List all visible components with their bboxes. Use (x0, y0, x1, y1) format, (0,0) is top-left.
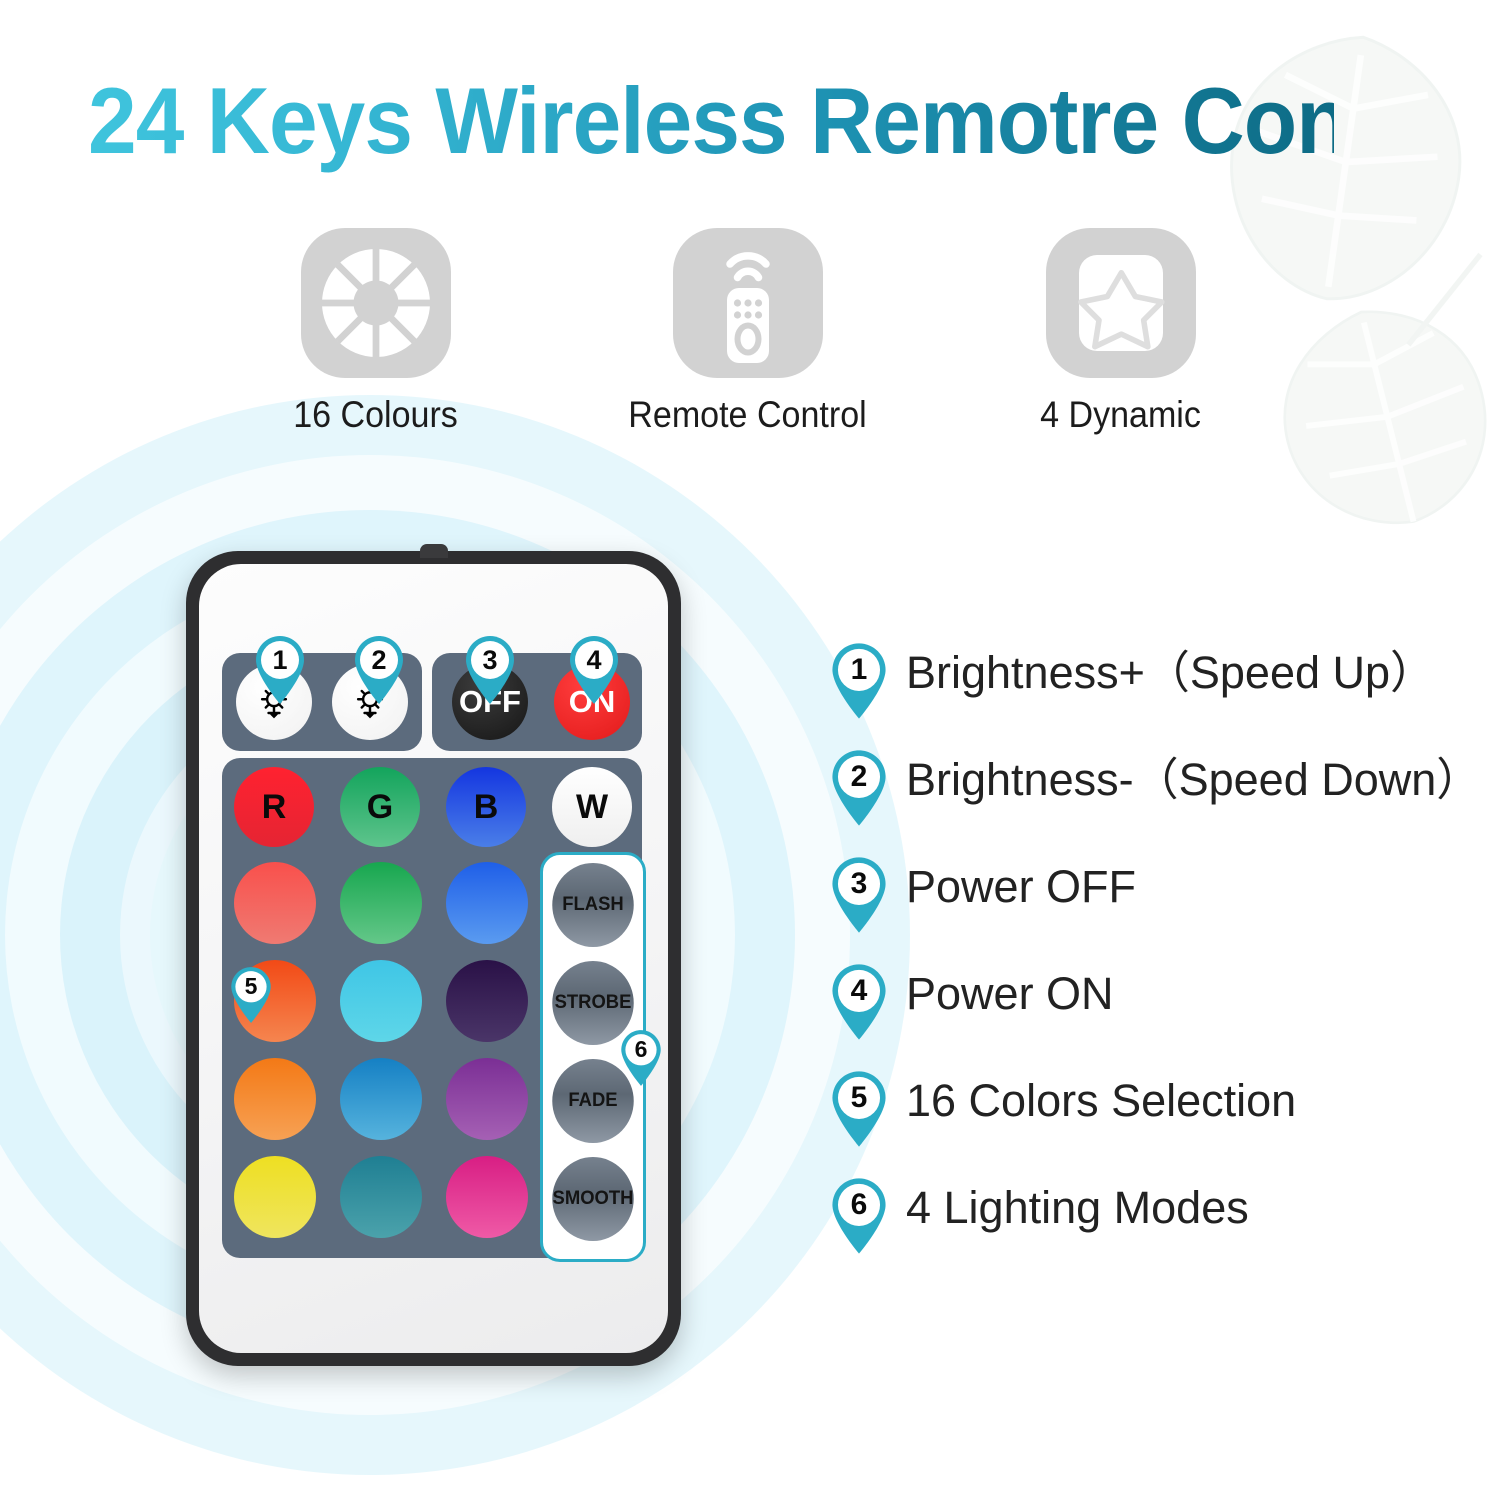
callout-pin-1: 1 (252, 634, 308, 706)
pin-number: 5 (228, 968, 274, 1004)
callout-pin-2: 2 (351, 634, 407, 706)
color-key-skyblue[interactable] (340, 1058, 422, 1140)
legend-pin-icon: 3 (828, 855, 890, 935)
color-key-cyan[interactable] (340, 960, 422, 1042)
callout-pin-3: 3 (462, 634, 518, 706)
mode-key-flash[interactable]: FLASH (552, 863, 633, 947)
legend-pin-icon: 2 (828, 748, 890, 828)
legend-pin-number: 3 (828, 860, 890, 908)
legend-pin-number: 2 (828, 753, 890, 801)
color-key-magenta[interactable] (446, 1156, 528, 1238)
color-key-yellow[interactable] (234, 1156, 316, 1238)
color-key-b[interactable]: B (446, 767, 526, 847)
legend-pin-number: 4 (828, 967, 890, 1015)
legend-item-3: 3 Power OFF (828, 851, 1488, 958)
legend-pin-number: 1 (828, 646, 890, 694)
legend-item-label: 4 Lighting Modes (906, 1178, 1249, 1238)
color-key-purple[interactable] (446, 1058, 528, 1140)
legend-item-label: Brightness-（Speed Down） (906, 750, 1481, 810)
infographic-canvas: 24 Keys Wireless Remotre Control 16 Colo… (0, 0, 1500, 1500)
color-key-orange[interactable] (234, 1058, 316, 1140)
legend-pin-icon: 6 (828, 1176, 890, 1256)
pin-number: 6 (618, 1031, 664, 1067)
legend-pin-number: 5 (828, 1074, 890, 1122)
legend-pin-number: 6 (828, 1181, 890, 1229)
legend-pin-icon: 1 (828, 641, 890, 721)
feature-4-dynamic: 4 Dynamic (973, 228, 1268, 436)
legend-item-label: Brightness+（Speed Up） (906, 643, 1435, 703)
legend-item-1: 1 Brightness+（Speed Up） (828, 637, 1488, 744)
color-key-blue[interactable] (446, 862, 528, 944)
pin-number: 2 (351, 638, 407, 682)
color-key-w[interactable]: W (552, 767, 632, 847)
color-key-teal[interactable] (340, 1156, 422, 1238)
legend-item-label: 16 Colors Selection (906, 1071, 1296, 1131)
legend-item-5: 5 16 Colors Selection (828, 1065, 1488, 1172)
legend-item-label: Power OFF (906, 857, 1136, 917)
callout-pin-6: 6 (618, 1028, 664, 1088)
color-key-salmon[interactable] (234, 862, 316, 944)
ir-emitter (420, 544, 448, 558)
pin-number: 3 (462, 638, 518, 682)
callout-pin-5: 5 (228, 965, 274, 1025)
color-key-r[interactable]: R (234, 767, 314, 847)
feature-label: 16 Colours (240, 394, 511, 436)
legend-item-4: 4 Power ON (828, 958, 1488, 1065)
pin-number: 4 (566, 638, 622, 682)
remote-control-icon (673, 228, 823, 378)
page-title: 24 Keys Wireless Remotre Control (88, 66, 1334, 176)
mode-key-smooth[interactable]: SMOOTH (552, 1157, 633, 1241)
legend-pin-icon: 5 (828, 1069, 890, 1149)
color-key-green[interactable] (340, 862, 422, 944)
color-key-g[interactable]: G (340, 767, 420, 847)
color-key-darkpurple[interactable] (446, 960, 528, 1042)
legend-item-6: 6 4 Lighting Modes (828, 1172, 1488, 1279)
feature-label: Remote Control (612, 394, 883, 436)
legend-item-2: 2 Brightness-（Speed Down） (828, 744, 1488, 851)
callout-pin-4: 4 (566, 634, 622, 706)
feature-remote-control: Remote Control (600, 228, 895, 436)
legend-item-label: Power ON (906, 964, 1114, 1024)
feature-16-colours: 16 Colours (228, 228, 523, 436)
star-icon (1046, 228, 1196, 378)
legend-pin-icon: 4 (828, 962, 890, 1042)
color-wheel-icon (301, 228, 451, 378)
legend-list: 1 Brightness+（Speed Up） 2 Brightness-（Sp… (828, 637, 1488, 1279)
pin-number: 1 (252, 638, 308, 682)
feature-label: 4 Dynamic (985, 394, 1256, 436)
